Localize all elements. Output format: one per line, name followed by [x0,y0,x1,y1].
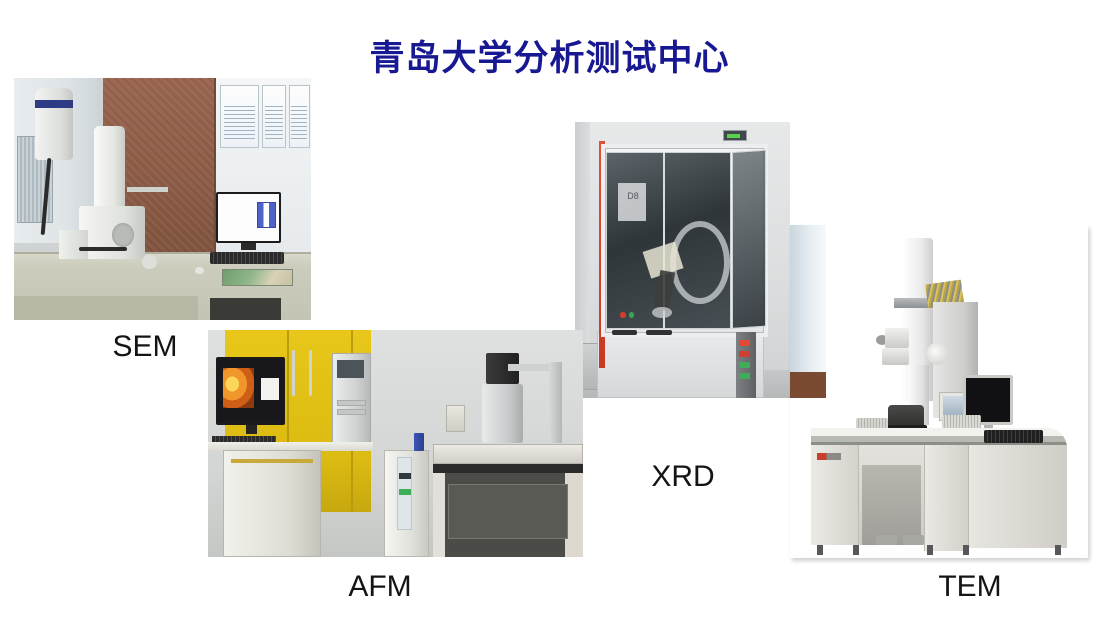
afm-vibration-table [433,444,583,464]
xrd-door-handle[interactable] [612,330,638,334]
sem-keyboard [210,252,284,264]
xrd-status-led [739,362,750,368]
sem-mouse [195,267,204,274]
xrd-glass-side-panel [732,150,766,329]
afm-tower-drive-bay [337,400,365,406]
xrd-status-led [739,340,750,346]
tem-console-cabinet-right [969,445,1067,548]
tem-console-cabinet-mid [924,445,969,552]
instrument-photo-xrd: D8 [575,122,790,398]
sem-tank-band [35,100,74,108]
tem-floor-strip [790,372,826,399]
tem-aperture-wheel [927,342,948,365]
tem-floor-pad [903,535,924,545]
afm-scan-image [223,368,254,408]
afm-software-panel [261,378,279,400]
tem-keyboard [984,430,1044,443]
sem-bench-front [14,296,198,320]
tem-console-knee-space [862,465,922,545]
instrument-photo-sem [14,78,311,320]
tem-lens-module [882,348,909,365]
afm-monitor [216,357,285,425]
tem-console-foot [927,545,933,555]
xrd-model-plate [618,183,646,222]
afm-tower-display [337,360,363,378]
sem-manual [222,269,293,286]
tem-console-foot [853,545,859,555]
afm-cabinet-handle[interactable] [292,350,295,395]
sem-arm [127,187,169,192]
afm-table-rail [433,464,583,473]
sem-electron-column [94,126,125,213]
afm-controller-led [399,489,410,495]
afm-desk-cabinet [223,450,321,557]
tem-console-foot [963,545,969,555]
sem-under-desk [210,298,281,320]
xrd-status-led [739,373,750,379]
afm-controller-display [399,473,410,479]
instrument-label-afm: AFM [340,570,420,604]
instrument-label-sem: SEM [110,330,180,364]
tem-lens-module [885,328,909,348]
afm-desk-drawer [231,459,314,462]
sem-poster [289,85,310,148]
tem-floor-pad [876,535,897,545]
sem-cable [79,247,127,250]
xrd-top-display [723,130,747,141]
instrument-photo-tem [790,225,1088,558]
xrd-model-text: D8 [619,191,647,201]
tem-scene [790,225,1088,558]
sem-stage-box [59,230,89,259]
afm-table-under-shelf [448,484,568,538]
instrument-photo-afm [208,330,583,557]
sem-monitor-screen [218,194,279,241]
afm-tower-drive-bay [337,409,365,415]
sem-monitor [216,192,281,243]
tem-console-foot [817,545,823,555]
instrument-label-tem: TEM [930,570,1010,604]
xrd-status-led [739,351,750,357]
afm-blue-bottle [414,433,424,451]
xrd-scene: D8 [575,122,790,398]
xrd-door-handle[interactable] [646,330,672,334]
xrd-start-button[interactable] [629,312,634,318]
sem-coolant-tank [35,88,74,161]
afm-electronics-box [446,405,465,432]
afm-cabinet-handle[interactable] [309,350,312,395]
afm-sample-chamber [482,384,523,443]
sem-poster [262,85,286,148]
afm-monitor-screen [218,359,283,423]
presentation-slide: 青岛大学分析测试中心 [0,0,1099,618]
sem-poster [220,85,259,148]
afm-monitor-stand [246,425,257,434]
tem-brand-badge [817,453,841,460]
sem-monitor-stand [241,243,256,250]
afm-support-post [549,362,562,444]
sem-screen-image [257,202,275,228]
instrument-label-xrd: XRD [648,460,718,494]
xrd-stop-button[interactable] [620,312,625,318]
afm-scene [208,330,583,557]
page-title: 青岛大学分析测试中心 [0,30,1099,81]
sem-scene [14,78,311,320]
sem-knob [142,255,157,270]
tem-console-foot [1055,545,1061,555]
xrd-sample-stage [652,307,671,318]
